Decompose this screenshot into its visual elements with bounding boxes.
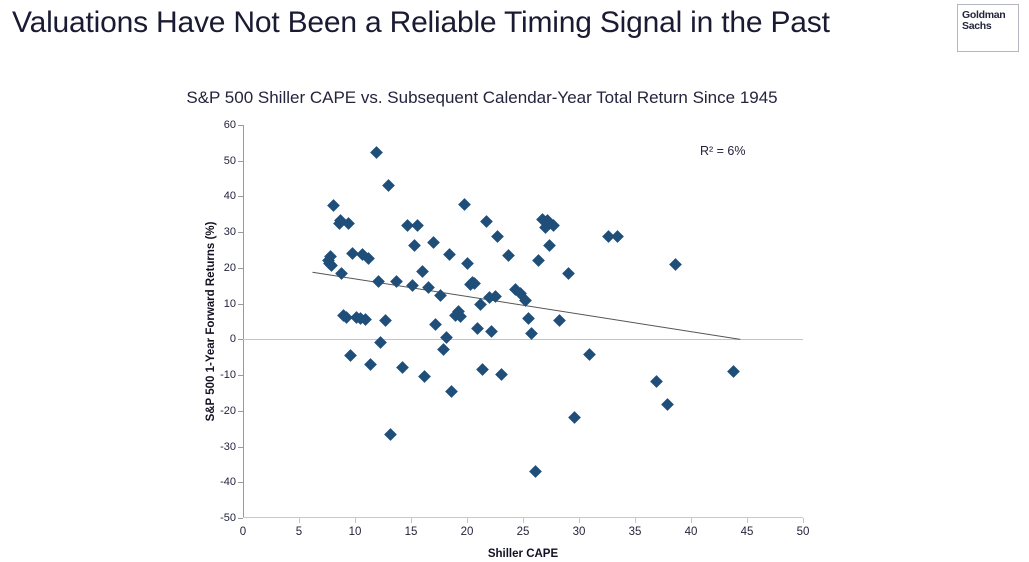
- data-point-marker: [396, 362, 409, 375]
- slide-root: Valuations Have Not Been a Reliable Timi…: [0, 0, 1029, 562]
- y-axis-tick-mark: [238, 447, 243, 448]
- x-axis-tick-mark: [691, 518, 692, 523]
- data-point-marker: [408, 239, 421, 252]
- data-point-marker: [335, 268, 348, 281]
- goldman-sachs-logo: Goldman Sachs: [957, 4, 1019, 52]
- zero-reference-line: [243, 339, 803, 340]
- data-point-marker: [502, 249, 515, 262]
- y-axis-tick-mark: [238, 268, 243, 269]
- data-point-marker: [480, 215, 493, 228]
- scatter-chart: S&P 500 Shiller CAPE vs. Subsequent Cale…: [0, 60, 1029, 562]
- x-axis-tick-mark: [523, 518, 524, 523]
- data-point-marker: [611, 230, 624, 243]
- data-point-marker: [423, 282, 436, 295]
- y-axis-label: S&P 500 1-Year Forward Returns (%): [205, 125, 221, 518]
- y-axis-tick-mark: [238, 518, 243, 519]
- data-point-marker: [372, 275, 385, 288]
- data-point-marker: [437, 343, 450, 356]
- data-point-marker: [411, 219, 424, 232]
- x-axis-tick-mark: [635, 518, 636, 523]
- x-axis-tick-mark: [467, 518, 468, 523]
- data-point-marker: [583, 348, 596, 361]
- data-point-marker: [522, 312, 535, 325]
- data-point-marker: [434, 289, 447, 302]
- data-point-marker: [429, 318, 442, 331]
- data-point-marker: [390, 275, 403, 288]
- data-point-marker: [461, 257, 474, 270]
- data-point-marker: [650, 375, 663, 388]
- data-point-marker: [379, 314, 392, 327]
- data-point-marker: [554, 314, 567, 327]
- y-axis-tick-mark: [238, 161, 243, 162]
- data-point-marker: [416, 265, 429, 278]
- data-point-marker: [374, 336, 387, 349]
- y-axis-tick-mark: [238, 125, 243, 126]
- x-axis-tick-label: 10: [349, 526, 362, 538]
- data-point-marker: [445, 385, 458, 398]
- x-axis-tick-mark: [411, 518, 412, 523]
- data-point-marker: [471, 322, 484, 335]
- data-point-marker: [532, 254, 545, 267]
- x-axis-tick-label: 45: [741, 526, 754, 538]
- y-axis-line: [243, 125, 244, 518]
- data-point-marker: [458, 198, 471, 211]
- y-axis-tick-mark: [238, 232, 243, 233]
- x-axis-tick-mark: [299, 518, 300, 523]
- data-point-marker: [529, 465, 542, 478]
- data-point-marker: [443, 248, 456, 261]
- x-axis-tick-mark: [355, 518, 356, 523]
- data-point-marker: [406, 279, 419, 292]
- x-axis-tick-label: 20: [461, 526, 474, 538]
- x-axis-label: Shiller CAPE: [243, 548, 803, 560]
- data-point-marker: [364, 358, 377, 371]
- data-point-marker: [485, 325, 498, 338]
- x-axis-tick-label: 25: [517, 526, 530, 538]
- data-point-marker: [495, 368, 508, 381]
- x-axis-tick-label: 5: [296, 526, 302, 538]
- data-point-marker: [384, 428, 397, 441]
- y-axis-tick-mark: [238, 196, 243, 197]
- y-axis-tick-mark: [238, 304, 243, 305]
- x-axis-tick-label: 50: [797, 526, 810, 538]
- x-axis-tick-mark: [579, 518, 580, 523]
- data-point-marker: [344, 349, 357, 362]
- data-point-marker: [568, 412, 581, 425]
- data-point-marker: [427, 236, 440, 249]
- x-axis-tick-label: 0: [240, 526, 246, 538]
- x-axis-tick-label: 15: [405, 526, 418, 538]
- data-point-marker: [544, 239, 557, 252]
- data-point-marker: [563, 267, 576, 280]
- x-axis-tick-label: 30: [573, 526, 586, 538]
- y-axis-tick-mark: [238, 411, 243, 412]
- data-point-marker: [661, 398, 674, 411]
- y-axis-tick-mark: [238, 482, 243, 483]
- data-point-marker: [382, 179, 395, 192]
- y-axis-tick-mark: [238, 339, 243, 340]
- data-point-marker: [476, 363, 489, 376]
- data-point-marker: [669, 258, 682, 271]
- x-axis-tick-mark: [747, 518, 748, 523]
- data-point-marker: [440, 331, 453, 344]
- data-point-marker: [727, 366, 740, 379]
- trendline: [243, 125, 803, 518]
- data-point-marker: [418, 370, 431, 383]
- x-axis-tick-label: 35: [629, 526, 642, 538]
- logo-line-sachs: Sachs: [958, 21, 1018, 32]
- x-axis-tick-label: 40: [685, 526, 698, 538]
- data-point-marker: [526, 327, 539, 340]
- chart-title: S&P 500 Shiller CAPE vs. Subsequent Cale…: [0, 88, 1029, 108]
- data-point-marker: [370, 146, 383, 159]
- data-point-marker: [327, 199, 340, 212]
- plot-area: 6050403020100-10-20-30-40-50051015202530…: [243, 125, 803, 518]
- logo-line-goldman: Goldman: [958, 5, 1018, 21]
- data-point-marker: [491, 230, 504, 243]
- x-axis-tick-mark: [803, 518, 804, 523]
- y-axis-tick-mark: [238, 375, 243, 376]
- page-title: Valuations Have Not Been a Reliable Timi…: [12, 6, 942, 40]
